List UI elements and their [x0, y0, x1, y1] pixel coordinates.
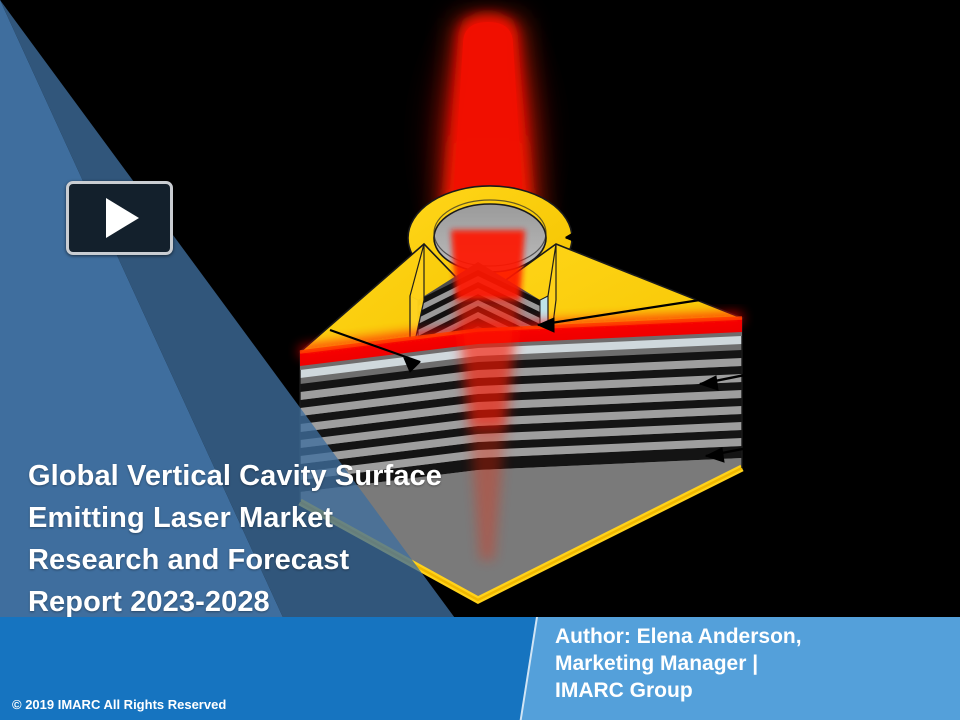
play-triangle-icon: [106, 198, 139, 238]
copyright-notice: © 2019 IMARC All Rights Reserved: [12, 697, 226, 712]
author-block: Author: Elena Anderson, Marketing Manage…: [555, 623, 955, 704]
title-line-3: Research and Forecast: [28, 539, 468, 581]
author-line-1: Author: Elena Anderson,: [555, 623, 955, 650]
author-line-3: IMARC Group: [555, 677, 955, 704]
play-button[interactable]: [66, 181, 173, 255]
title-line-2: Emitting Laser Market: [28, 497, 468, 539]
author-line-2: Marketing Manager |: [555, 650, 955, 677]
slide-title: Global Vertical Cavity Surface Emitting …: [28, 455, 468, 623]
title-line-1: Global Vertical Cavity Surface: [28, 455, 468, 497]
slide-canvas: Global Vertical Cavity Surface Emitting …: [0, 0, 960, 720]
